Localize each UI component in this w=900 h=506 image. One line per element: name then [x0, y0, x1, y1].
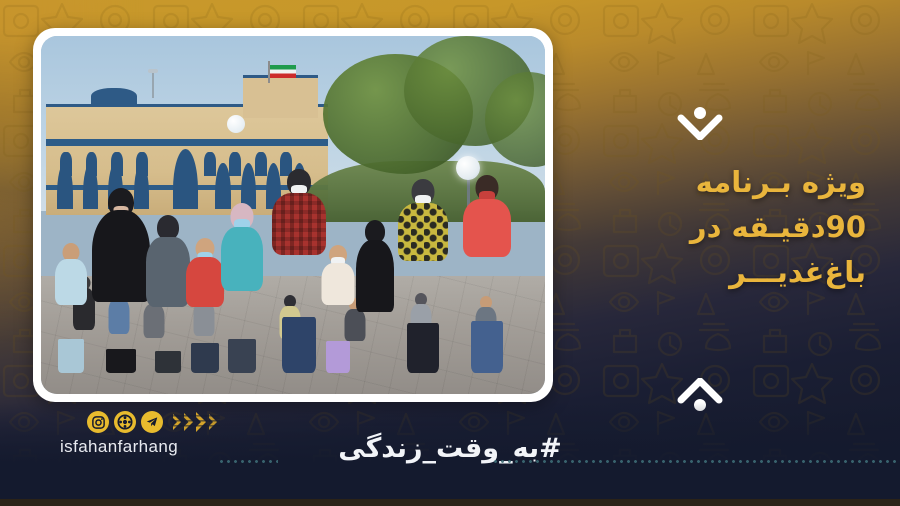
- photo-person-child: [51, 235, 91, 373]
- photo-building-window: [255, 152, 267, 176]
- photo-building-window: [204, 152, 216, 176]
- photo-building-tower: [243, 75, 319, 118]
- brand-block: isfahanfarhang: [60, 410, 220, 457]
- headline-line-1: ویژه بـرنامه: [566, 160, 866, 205]
- photo-building-window: [229, 152, 241, 176]
- headline-line-3: باغ‌غدیـــر: [566, 250, 866, 295]
- photo-person-chador: [353, 216, 397, 372]
- headline: ویژه بـرنامه 90دقیـقه در باغ‌غدیـــر: [566, 160, 866, 295]
- dotted-separator-left: [218, 459, 278, 464]
- telegram-icon[interactable]: [141, 411, 163, 433]
- photo-person-headscarf: [217, 201, 267, 372]
- brand-icon-row: [60, 410, 220, 434]
- photo-person-man-patterned: [394, 179, 452, 373]
- instagram-icon[interactable]: [87, 411, 109, 433]
- dotted-separator-right: [492, 459, 897, 464]
- photo-person-child: [318, 235, 358, 373]
- headline-line-2: 90دقیـقه در: [566, 205, 866, 250]
- event-photo: [41, 36, 545, 394]
- photo-building-band-upper: [46, 139, 328, 145]
- person-chevron-down-icon: [677, 106, 723, 140]
- photo-building-dome: [91, 88, 136, 106]
- brand-handle: isfahanfarhang: [60, 437, 220, 457]
- photo-crowd: [41, 186, 545, 372]
- aparat-icon[interactable]: [114, 411, 136, 433]
- photo-person-woman-red: [459, 175, 515, 372]
- photo-card: [33, 28, 553, 402]
- photo-antenna-mast: [152, 72, 154, 98]
- triple-chevron-logo: [172, 412, 220, 432]
- photo-iran-flag: [270, 65, 296, 78]
- poster-canvas: ویژه بـرنامه 90دقیـقه در باغ‌غدیـــر: [0, 0, 900, 506]
- bottom-edge-strip: [0, 499, 900, 506]
